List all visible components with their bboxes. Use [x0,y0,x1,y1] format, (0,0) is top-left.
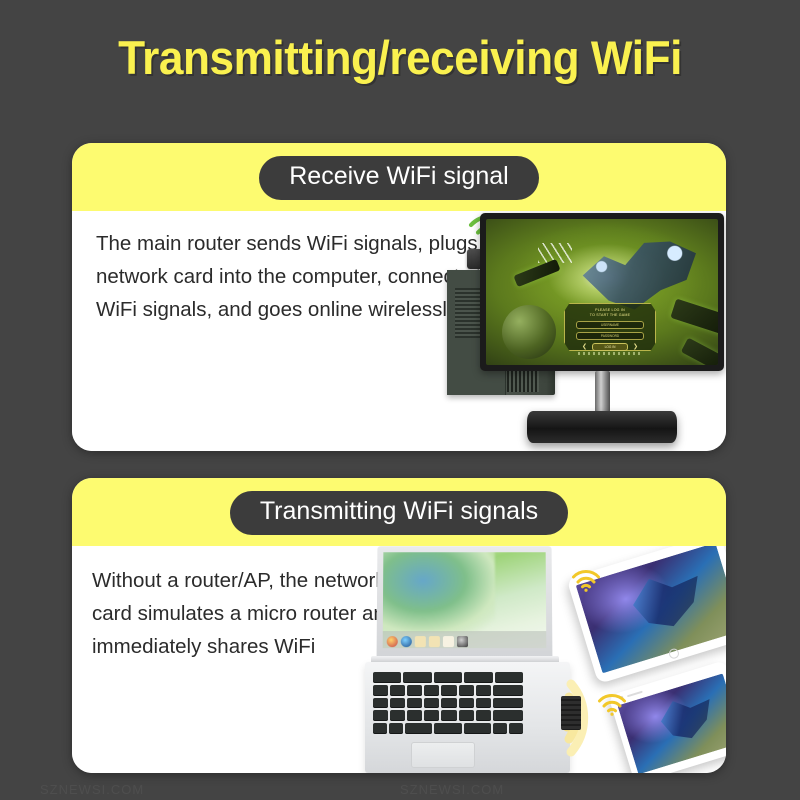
laptop-keyboard[interactable] [373,672,523,734]
spaceship-graphic [670,299,718,336]
laptop-dock [383,631,547,648]
monitor-screen: PLEASE LOG IN TO START THE GAME Username… [486,219,718,365]
game-username-field[interactable]: Username [576,321,644,329]
keyboard-row [373,685,523,696]
dock-icon-trash[interactable] [457,636,468,647]
card-receive-body: The main router sends WiFi signals, plug… [72,211,726,451]
keyboard-row [373,710,523,721]
card-transmit-body: Without a router/AP, the network card si… [72,546,726,773]
watermark: SZNEWSI.COM [400,782,504,797]
dock-icon-document[interactable] [443,636,454,647]
keyboard-row [373,672,523,683]
dock-icon-mail[interactable] [401,636,412,647]
card-receive-wifi-signal: Receive WiFi signal The main router send… [72,143,726,451]
card-receive-header: Receive WiFi signal [72,143,726,211]
watermark: SZNEWSI.COM [40,782,144,797]
laptop-screen [383,552,547,648]
desktop-monitor: PLEASE LOG IN TO START THE GAME Username… [480,213,724,451]
chevron-right-icon[interactable]: ❯ [633,344,638,350]
laptop-trackpad[interactable] [411,742,475,768]
card-transmitting-wifi-signals: Transmitting WiFi signals Without a rout… [72,478,726,773]
dock-icon-browser[interactable] [387,636,398,647]
game-password-field[interactable]: Password [576,332,644,340]
wifi-signal-icon [571,570,601,592]
laptop-lid [377,546,553,658]
laptop-scene [365,546,726,773]
dock-icon-folder[interactable] [415,636,426,647]
card-transmit-header: Transmitting WiFi signals [72,478,726,546]
game-login-panel: PLEASE LOG IN TO START THE GAME Username… [564,303,656,351]
page-title: Transmitting/receiving WiFi [24,30,776,85]
wifi-broadcast-waves-icon [515,664,665,772]
wallpaper-graphic [383,552,495,632]
monitor-stand-base [527,411,677,443]
keyboard-row [373,698,523,709]
spaceship-graphic [681,338,718,365]
game-login-title: PLEASE LOG IN TO START THE GAME [590,308,630,318]
spaceship-graphic [513,259,560,287]
monitor-bezel: PLEASE LOG IN TO START THE GAME Username… [480,213,724,371]
keyboard-row [373,723,523,734]
card-receive-header-pill: Receive WiFi signal [259,156,539,200]
planet-graphic [502,305,556,359]
chevron-left-icon[interactable]: ❮ [582,344,587,350]
wifi-signal-icon [597,694,627,716]
usb-wifi-adapter [561,696,581,730]
game-login-button[interactable]: Log in [592,343,628,351]
tablet-screen [576,546,726,673]
screen-dot-decoration [578,352,642,355]
card-transmit-description: Without a router/AP, the network card si… [92,564,402,664]
dock-icon-folder[interactable] [429,636,440,647]
card-transmit-header-pill: Transmitting WiFi signals [230,491,568,535]
game-login-row: ❮ Log in ❯ [582,343,638,351]
